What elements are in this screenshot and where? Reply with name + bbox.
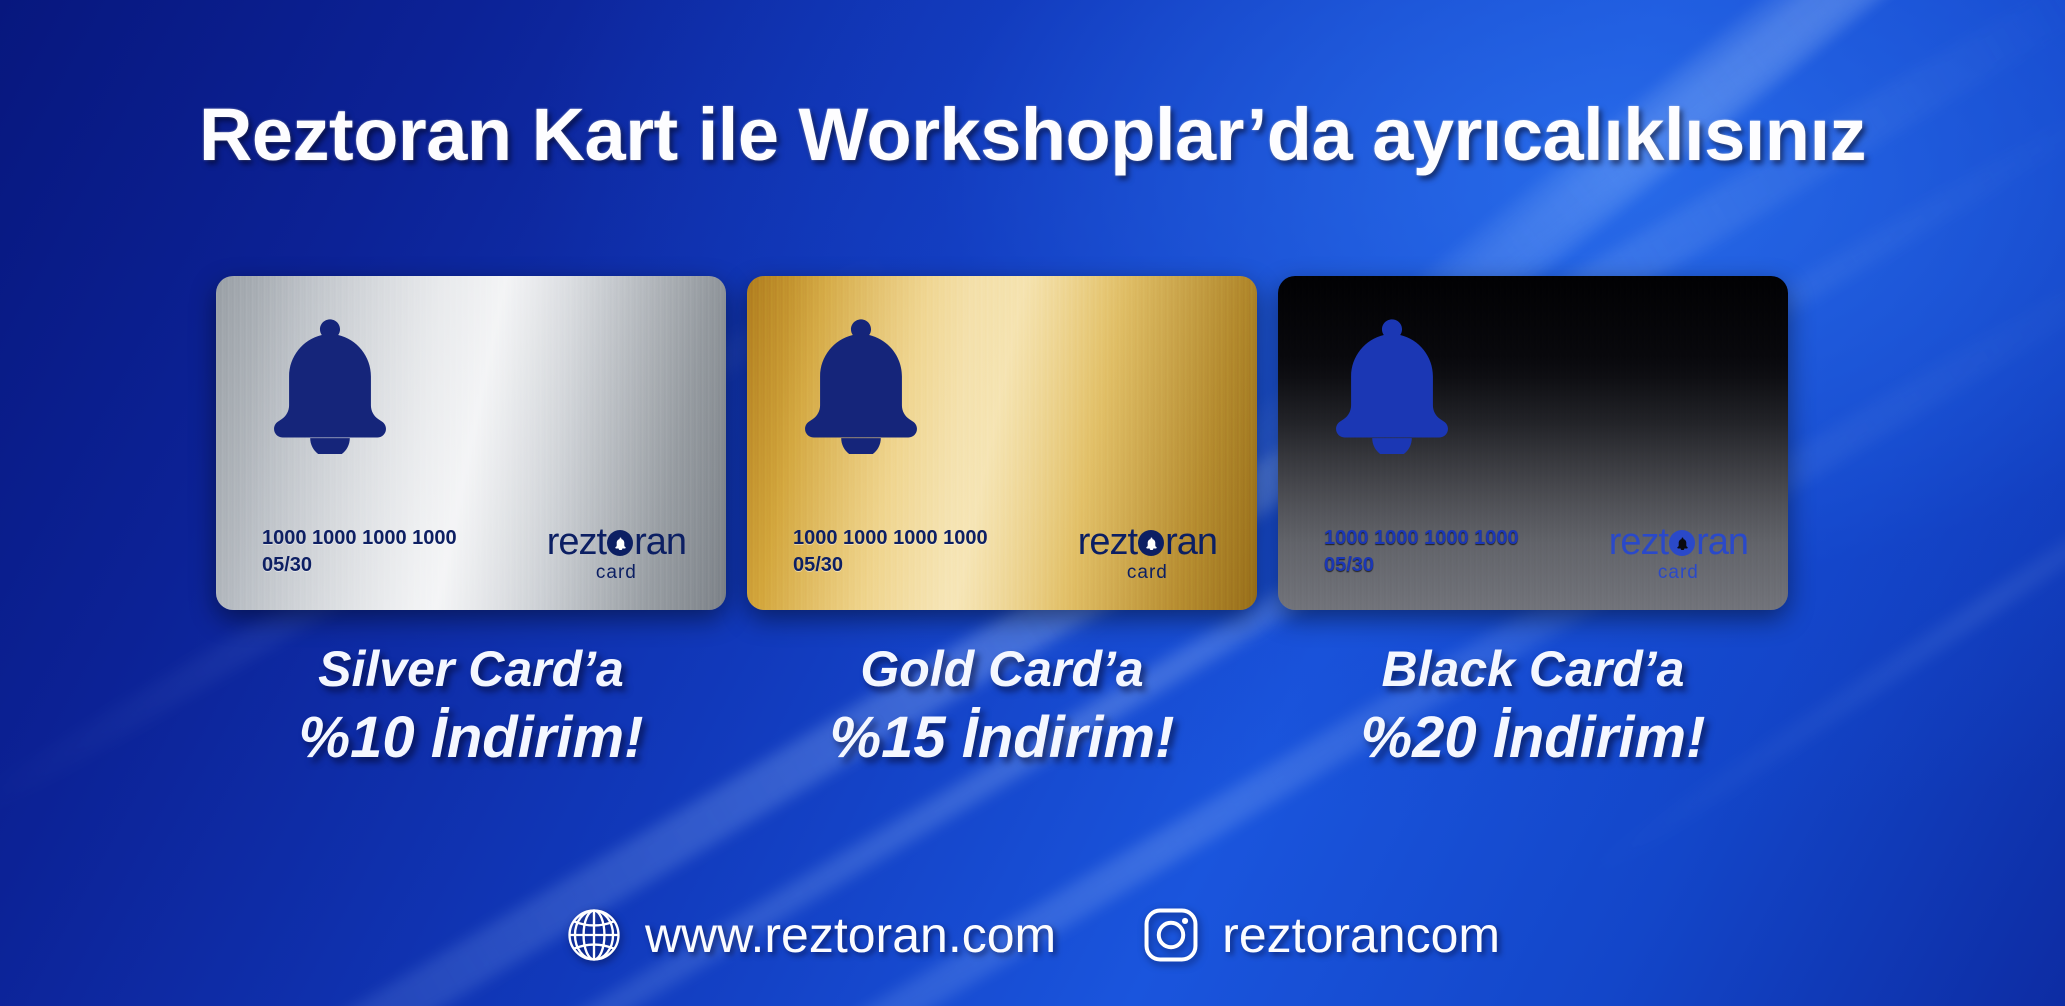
caption-black: Black Card’a %20 İndirim! — [1278, 640, 1788, 771]
logo-text-suffix: ran — [634, 523, 686, 561]
caption-gold-title: Gold Card’a — [747, 640, 1257, 698]
card-black[interactable]: 1000 1000 1000 1000 05/30 rezt ran card — [1278, 276, 1788, 610]
card-number: 1000 1000 1000 1000 — [793, 525, 988, 551]
caption-black-title: Black Card’a — [1278, 640, 1788, 698]
logo-subtitle: card — [1078, 563, 1217, 582]
logo-subtitle: card — [1609, 563, 1748, 582]
card-silver[interactable]: 1000 1000 1000 1000 05/30 rezt ran card — [216, 276, 726, 610]
card-expiry: 05/30 — [1324, 552, 1519, 578]
card-number: 1000 1000 1000 1000 — [262, 525, 457, 551]
logo-text-suffix: ran — [1696, 523, 1748, 561]
caption-gold: Gold Card’a %15 İndirim! — [747, 640, 1257, 771]
instagram-label: reztorancom — [1222, 906, 1500, 964]
footer-contacts: www.reztoran.com reztorancom — [0, 906, 2065, 964]
logo-text-suffix: ran — [1165, 523, 1217, 561]
bell-icon — [1326, 314, 1458, 454]
caption-black-discount: %20 İndirim! — [1278, 704, 1788, 771]
logo-text-prefix: rezt — [1609, 523, 1668, 561]
card-row: 1000 1000 1000 1000 05/30 rezt ran card — [216, 276, 1788, 610]
card-gold[interactable]: 1000 1000 1000 1000 05/30 rezt ran card — [747, 276, 1257, 610]
promo-banner: Reztoran Kart ile Workshoplar’da ayrıcal… — [0, 0, 2065, 1006]
card-details: 1000 1000 1000 1000 05/30 — [262, 525, 457, 578]
card-expiry: 05/30 — [793, 552, 988, 578]
website-link[interactable]: www.reztoran.com — [565, 906, 1056, 964]
bell-icon — [795, 314, 927, 454]
card-details: 1000 1000 1000 1000 05/30 — [1324, 525, 1519, 578]
logo-subtitle: card — [547, 563, 686, 582]
caption-row: Silver Card’a %10 İndirim! Gold Card’a %… — [216, 640, 1788, 771]
logo-bell-mark-icon — [1669, 530, 1695, 556]
card-expiry: 05/30 — [262, 552, 457, 578]
reztoran-card-logo: rezt ran card — [547, 523, 686, 582]
caption-silver: Silver Card’a %10 İndirim! — [216, 640, 726, 771]
instagram-icon — [1142, 906, 1200, 964]
bell-icon — [264, 314, 396, 454]
logo-text-prefix: rezt — [547, 523, 606, 561]
card-details: 1000 1000 1000 1000 05/30 — [793, 525, 988, 578]
website-label: www.reztoran.com — [645, 906, 1056, 964]
caption-gold-discount: %15 İndirim! — [747, 704, 1257, 771]
globe-icon — [565, 906, 623, 964]
logo-text-prefix: rezt — [1078, 523, 1137, 561]
reztoran-card-logo: rezt ran card — [1609, 523, 1748, 582]
caption-silver-title: Silver Card’a — [216, 640, 726, 698]
card-number: 1000 1000 1000 1000 — [1324, 525, 1519, 551]
instagram-link[interactable]: reztorancom — [1142, 906, 1500, 964]
caption-silver-discount: %10 İndirim! — [216, 704, 726, 771]
reztoran-card-logo: rezt ran card — [1078, 523, 1217, 582]
headline: Reztoran Kart ile Workshoplar’da ayrıcal… — [0, 92, 2065, 177]
logo-bell-mark-icon — [1138, 530, 1164, 556]
logo-bell-mark-icon — [607, 530, 633, 556]
